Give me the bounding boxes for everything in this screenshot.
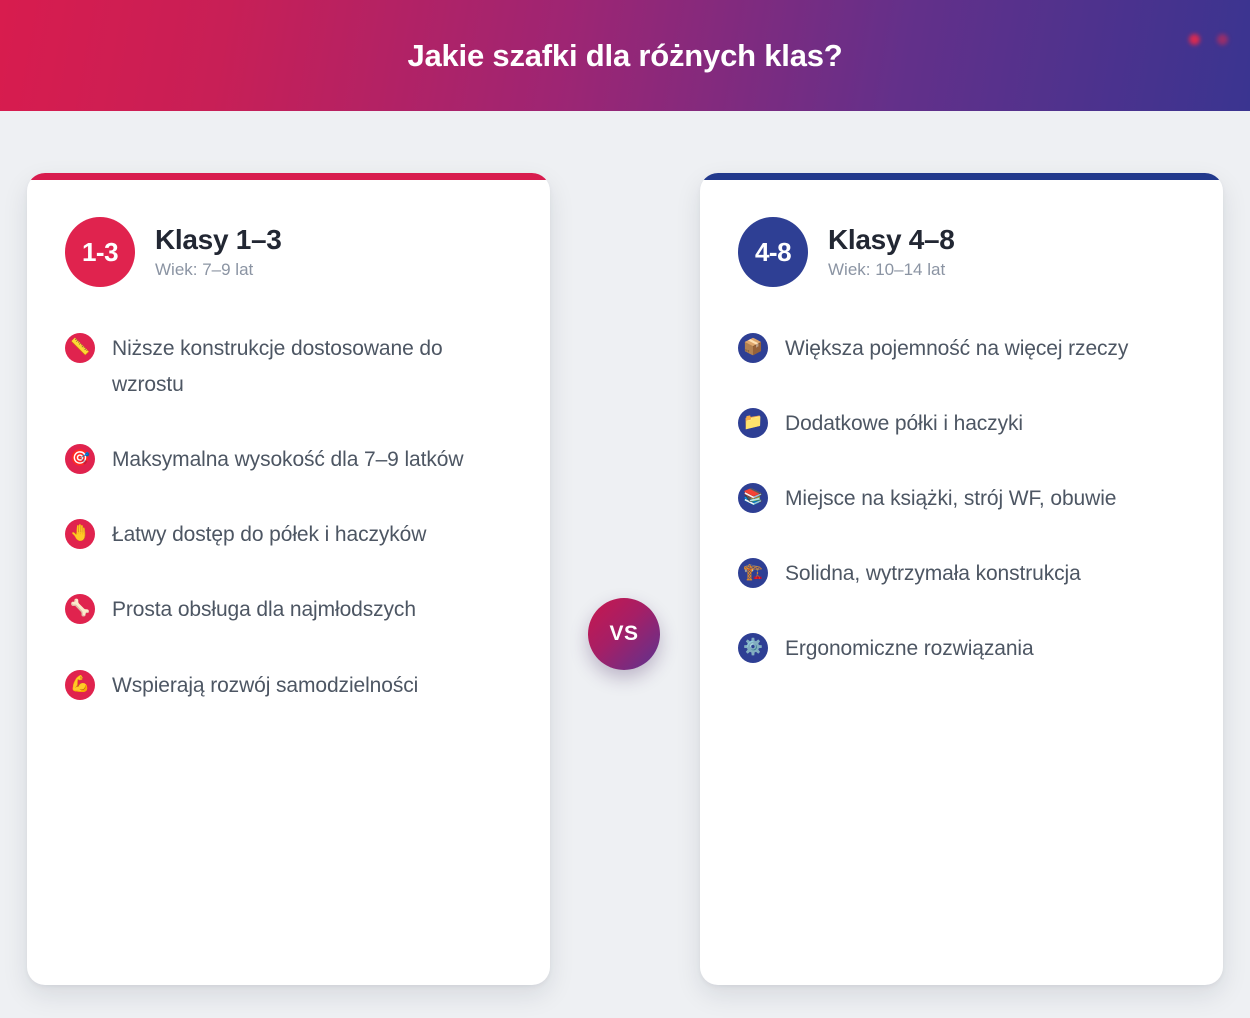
page-title: Jakie szafki dla różnych klas? [407,37,842,74]
comparison-card-klasy-1-3: 1-3 Klasy 1–3 Wiek: 7–9 lat 📏 Niższe kon… [27,173,550,985]
feature-text: Prosta obsługa dla najmłodszych [112,592,416,628]
gear-icon: ⚙️ [738,633,768,663]
feature-list: 📏 Niższe konstrukcje dostosowane do wzro… [65,331,512,704]
versus-badge: VS [588,598,660,670]
list-item: ⚙️ Ergonomiczne rozwiązania [738,631,1185,667]
folder-icon: 📁 [738,408,768,438]
biceps-icon: 💪 [65,670,95,700]
feature-text: Wspierają rozwój samodzielności [112,668,418,704]
feature-text: Miejsce na książki, strój WF, obuwie [785,481,1116,517]
list-item: 🦴 Prosta obsługa dla najmłodszych [65,592,512,628]
list-item: 💪 Wspierają rozwój samodzielności [65,668,512,704]
list-item: 📏 Niższe konstrukcje dostosowane do wzro… [65,331,512,403]
page-header: Jakie szafki dla różnych klas? [0,0,1250,111]
decorative-dot-icon [1217,34,1228,45]
comparison-cards: 1-3 Klasy 1–3 Wiek: 7–9 lat 📏 Niższe kon… [0,173,1250,985]
list-item: 📚 Miejsce na książki, strój WF, obuwie [738,481,1185,517]
card-title: Klasy 1–3 [155,224,282,256]
card-header: 4-8 Klasy 4–8 Wiek: 10–14 lat [738,217,1185,287]
feature-text: Większa pojemność na więcej rzeczy [785,331,1128,367]
target-icon: 🎯 [65,444,95,474]
grade-badge: 4-8 [738,217,808,287]
hand-icon: 🤚 [65,519,95,549]
feature-text: Niższe konstrukcje dostosowane do wzrost… [112,331,512,403]
books-icon: 📚 [738,483,768,513]
list-item: 📁 Dodatkowe półki i haczyki [738,406,1185,442]
feature-text: Solidna, wytrzymała konstrukcja [785,556,1081,592]
card-title: Klasy 4–8 [828,224,955,256]
card-subtitle: Wiek: 10–14 lat [828,260,955,280]
crane-icon: 🏗️ [738,558,768,588]
bone-icon: 🦴 [65,594,95,624]
ruler-icon: 📏 [65,333,95,363]
feature-list: 📦 Większa pojemność na więcej rzeczy 📁 D… [738,331,1185,668]
decorative-dot-icon [1189,34,1200,45]
list-item: 🎯 Maksymalna wysokość dla 7–9 latków [65,442,512,478]
header-decorative-dots [1189,34,1228,45]
feature-text: Dodatkowe półki i haczyki [785,406,1023,442]
card-subtitle: Wiek: 7–9 lat [155,260,282,280]
feature-text: Łatwy dostęp do półek i haczyków [112,517,426,553]
package-icon: 📦 [738,333,768,363]
grade-badge: 1-3 [65,217,135,287]
list-item: 📦 Większa pojemność na więcej rzeczy [738,331,1185,367]
list-item: 🏗️ Solidna, wytrzymała konstrukcja [738,556,1185,592]
list-item: 🤚 Łatwy dostęp do półek i haczyków [65,517,512,553]
comparison-stage: 1-3 Klasy 1–3 Wiek: 7–9 lat 📏 Niższe kon… [0,111,1250,1018]
feature-text: Ergonomiczne rozwiązania [785,631,1034,667]
feature-text: Maksymalna wysokość dla 7–9 latków [112,442,463,478]
card-header: 1-3 Klasy 1–3 Wiek: 7–9 lat [65,217,512,287]
comparison-card-klasy-4-8: 4-8 Klasy 4–8 Wiek: 10–14 lat 📦 Większa … [700,173,1223,985]
